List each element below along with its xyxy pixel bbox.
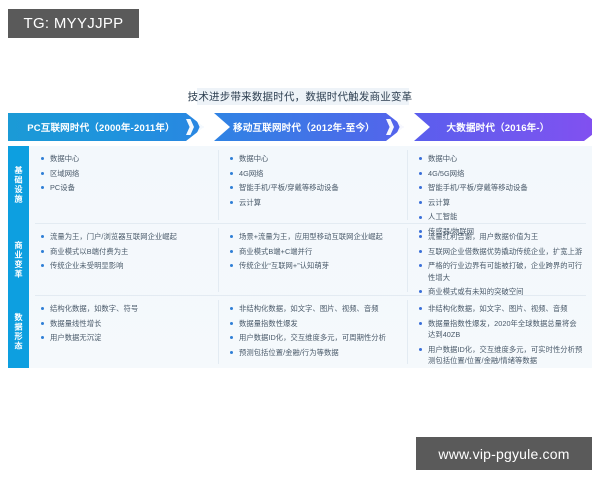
bullet-item: PC设备 bbox=[41, 182, 210, 193]
grid-row-infrastructure: 数据中心区域网络PC设备 数据中心4G网络智能手机/平板/穿戴等移动设备云计算 … bbox=[29, 146, 592, 224]
row-label-data-form-text: 数据形态 bbox=[13, 313, 24, 351]
bullet-item: 商业模式B端+C端并行 bbox=[230, 246, 399, 257]
bullet-item: 云计算 bbox=[419, 197, 584, 208]
infographic: 技术进步带来数据时代，数据时代触发商业变革 PC互联网时代（2000年-2011… bbox=[0, 88, 600, 388]
bullet-item: 智能手机/平板/穿戴等移动设备 bbox=[230, 182, 399, 193]
era-bar-mobile[interactable]: 移动互联网时代（2012年-至今） bbox=[214, 113, 404, 141]
cell-business-mobile: 场景+流量为王，应用型移动互联网企业崛起商业模式B端+C端并行传统企业“互联网+… bbox=[218, 224, 407, 296]
bullet-item: 流量红利告谢，用户数据价值为王 bbox=[419, 231, 584, 242]
bullet-item: 人工智能 bbox=[419, 211, 584, 222]
row-label-sidebar: 基础设施 商业变革 数据形态 bbox=[8, 146, 29, 368]
chevron-separator-icon bbox=[186, 113, 232, 141]
bullet-item: 互联网企业借数据优势撬动传统企业，扩宽上游 bbox=[419, 246, 584, 257]
bullet-item: 4G/5G网络 bbox=[419, 168, 584, 179]
comparison-grid: 基础设施 商业变革 数据形态 数据中心区域网络PC设备 数据中心4G网络智能手机… bbox=[8, 146, 592, 368]
bullet-item: 数据中心 bbox=[230, 153, 399, 164]
cell-dataform-pc: 结构化数据，如数字、符号数据量线性增长用户数据无沉淀 bbox=[29, 296, 218, 368]
cell-infrastructure-bigdata: 数据中心4G/5G网络智能手机/平板/穿戴等移动设备云计算人工智能传感器/物联网 bbox=[407, 146, 592, 224]
cell-dataform-mobile: 非结构化数据，如文字、图片、视频、音频数据量指数性爆发用户数据ID化，交互维度多… bbox=[218, 296, 407, 368]
row-label-business-change-text: 商业变革 bbox=[13, 241, 24, 279]
bullet-item: 非结构化数据，如文字、图片、视频、音频 bbox=[230, 303, 399, 314]
bullet-item: 智能手机/平板/穿戴等移动设备 bbox=[419, 182, 584, 193]
grid-panel: 数据中心区域网络PC设备 数据中心4G网络智能手机/平板/穿戴等移动设备云计算 … bbox=[29, 146, 592, 368]
bullet-list: 数据中心4G网络智能手机/平板/穿戴等移动设备云计算 bbox=[230, 153, 399, 208]
row-label-data-form: 数据形态 bbox=[8, 296, 29, 368]
bullet-item: 4G网络 bbox=[230, 168, 399, 179]
tg-watermark-text: TG: MYYJJPP bbox=[24, 15, 124, 32]
cell-infrastructure-pc: 数据中心区域网络PC设备 bbox=[29, 146, 218, 224]
bullet-item: 用户数据ID化，交互维度多元，可周期性分析 bbox=[230, 332, 399, 343]
cell-dataform-bigdata: 非结构化数据，如文字、图片、视频、音频数据量指数性爆发，2020年全球数据总量将… bbox=[407, 296, 592, 368]
bullet-item: 结构化数据，如数字、符号 bbox=[41, 303, 210, 314]
bullet-item: 区域网络 bbox=[41, 168, 210, 179]
url-watermark-text: www.vip-pgyule.com bbox=[438, 446, 569, 462]
bullet-item: 数据中心 bbox=[41, 153, 210, 164]
cell-business-pc: 流量为王，门户/浏览器互联网企业崛起商业模式以B端付费为主传统企业未受明显影响 bbox=[29, 224, 218, 296]
bullet-list: 流量红利告谢，用户数据价值为王互联网企业借数据优势撬动传统企业，扩宽上游严格的行… bbox=[419, 231, 584, 298]
cell-infrastructure-mobile: 数据中心4G网络智能手机/平板/穿戴等移动设备云计算 bbox=[218, 146, 407, 224]
era-bar-pc-label: PC互联网时代（2000年-2011年） bbox=[27, 120, 175, 134]
row-label-infrastructure-text: 基础设施 bbox=[13, 166, 24, 204]
row-label-business-change: 商业变革 bbox=[8, 224, 29, 296]
chevron-separator-icon bbox=[386, 113, 432, 141]
bullet-item: 用户数据无沉淀 bbox=[41, 332, 210, 343]
bullet-item: 流量为王，门户/浏览器互联网企业崛起 bbox=[41, 231, 210, 242]
bullet-item: 用户数据ID化，交互维度多元，可实时性分析预测包括位置/位置/金融/情绪等数据 bbox=[419, 344, 584, 367]
bullet-list: 结构化数据，如数字、符号数据量线性增长用户数据无沉淀 bbox=[41, 303, 210, 344]
grid-row-business-change: 流量为王，门户/浏览器互联网企业崛起商业模式以B端付费为主传统企业未受明显影响 … bbox=[29, 224, 592, 296]
bullet-list: 非结构化数据，如文字、图片、视频、音频数据量指数性爆发，2020年全球数据总量将… bbox=[419, 303, 584, 366]
bullet-item: 预测包括位置/金融/行为等数据 bbox=[230, 347, 399, 358]
era-bar-pc[interactable]: PC互联网时代（2000年-2011年） bbox=[8, 113, 204, 141]
bullet-item: 数据量线性增长 bbox=[41, 318, 210, 329]
infographic-title-row: 技术进步带来数据时代，数据时代触发商业变革 bbox=[0, 88, 600, 108]
bullet-item: 数据量指数性爆发 bbox=[230, 318, 399, 329]
bullet-item: 严格的行业边界有可能被打破，企业跨界的可行性增大 bbox=[419, 260, 584, 283]
row-label-infrastructure: 基础设施 bbox=[8, 146, 29, 224]
bullet-item: 传统企业未受明显影响 bbox=[41, 260, 210, 271]
bullet-list: 非结构化数据，如文字、图片、视频、音频数据量指数性爆发用户数据ID化，交互维度多… bbox=[230, 303, 399, 358]
grid-row-data-form: 结构化数据，如数字、符号数据量线性增长用户数据无沉淀 非结构化数据，如文字、图片… bbox=[29, 296, 592, 368]
url-watermark-badge: www.vip-pgyule.com bbox=[416, 437, 592, 470]
bullet-item: 场景+流量为王，应用型移动互联网企业崛起 bbox=[230, 231, 399, 242]
bullet-item: 数据量指数性爆发，2020年全球数据总量将会达到40ZB bbox=[419, 318, 584, 341]
bullet-item: 传统企业“互联网+”认知萌芽 bbox=[230, 260, 399, 271]
era-header-bars: PC互联网时代（2000年-2011年） 移动互联网时代（2012年-至今） 大… bbox=[8, 113, 592, 141]
bullet-item: 商业模式以B端付费为主 bbox=[41, 246, 210, 257]
page-title: 技术进步带来数据时代，数据时代触发商业变革 bbox=[0, 89, 600, 104]
cell-business-bigdata: 流量红利告谢，用户数据价值为王互联网企业借数据优势撬动传统企业，扩宽上游严格的行… bbox=[407, 224, 592, 296]
tg-watermark-badge: TG: MYYJJPP bbox=[8, 9, 139, 38]
bullet-item: 非结构化数据，如文字、图片、视频、音频 bbox=[419, 303, 584, 314]
bullet-item: 数据中心 bbox=[419, 153, 584, 164]
era-bar-mobile-label: 移动互联网时代（2012年-至今） bbox=[233, 120, 375, 134]
bullet-item: 云计算 bbox=[230, 197, 399, 208]
bullet-list: 流量为王，门户/浏览器互联网企业崛起商业模式以B端付费为主传统企业未受明显影响 bbox=[41, 231, 210, 272]
bullet-list: 场景+流量为王，应用型移动互联网企业崛起商业模式B端+C端并行传统企业“互联网+… bbox=[230, 231, 399, 272]
era-bar-bigdata[interactable]: 大数据时代（2016年-） bbox=[414, 113, 592, 141]
bullet-list: 数据中心区域网络PC设备 bbox=[41, 153, 210, 194]
era-bar-bigdata-label: 大数据时代（2016年-） bbox=[447, 120, 550, 134]
